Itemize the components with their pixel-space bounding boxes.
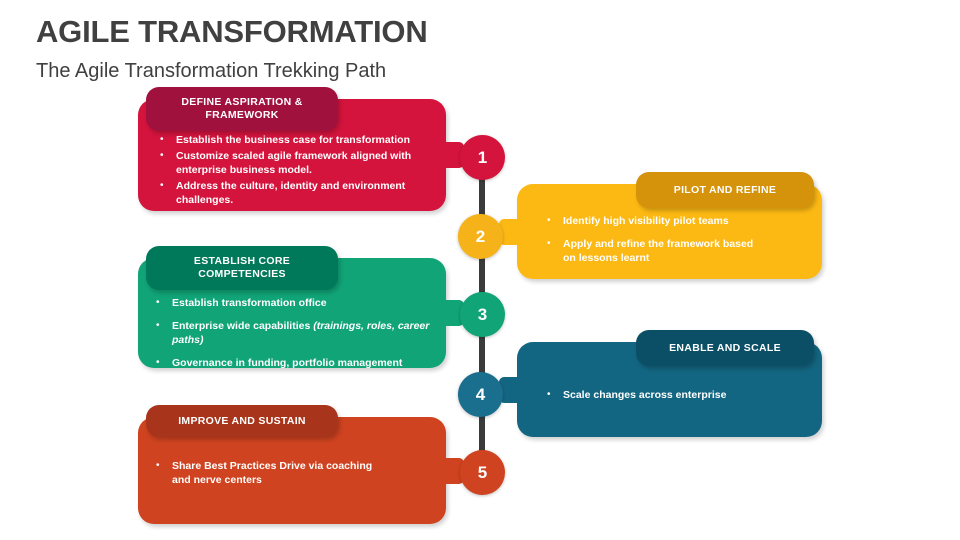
bullet-dot-icon: • [156,296,172,310]
card-header-3: ESTABLISH CORE COMPETENCIES [146,246,338,290]
bullet-dot-icon: • [156,319,172,333]
bullet-dot-icon: • [547,214,563,228]
step-card-1[interactable]: DEFINE ASPIRATION & FRAMEWORK • Establis… [138,99,446,211]
card-header-line1-3: ESTABLISH CORE [194,255,290,267]
step-card-4[interactable]: ENABLE AND SCALE • Scale changes across … [517,342,822,437]
page-subtitle: The Agile Transformation Trekking Path [36,60,386,83]
bullet-item: • Customize scaled agile framework align… [160,149,426,177]
bullet-dot-icon: • [156,356,172,370]
bullet-dot-icon: • [160,133,176,147]
step-number-circle-1[interactable]: 1 [460,135,505,180]
step-number-circle-2[interactable]: 2 [458,214,503,259]
slide-canvas: AGILE TRANSFORMATION The Agile Transform… [0,0,960,540]
step-card-2[interactable]: PILOT AND REFINE • Identify high visibil… [517,184,822,279]
step-card-5[interactable]: IMPROVE AND SUSTAIN • Share Best Practic… [138,417,446,524]
step-number-circle-3[interactable]: 3 [460,292,505,337]
page-title: AGILE TRANSFORMATION [36,14,428,50]
bullet-dot-icon: • [156,459,172,473]
card-bullets-5: • Share Best Practices Drive via coachin… [156,459,386,489]
step-number-label-2: 2 [476,227,485,247]
step-number-circle-5[interactable]: 5 [460,450,505,495]
bullet-dot-icon: • [547,237,563,251]
bullet-text-mixed: Enterprise wide capabilities (trainings,… [172,319,434,347]
card-bullets-1: • Establish the business case for transf… [160,133,426,209]
step-number-label-3: 3 [478,305,487,325]
bullet-item: • Apply and refine the framework based o… [547,237,802,265]
step-number-circle-4[interactable]: 4 [458,372,503,417]
bullet-item: • Address the culture, identity and envi… [160,179,426,207]
bullet-dot-icon: • [160,179,176,193]
step-number-label-4: 4 [476,385,485,405]
card-header-line1-1: DEFINE ASPIRATION & [181,96,302,108]
card-header-text-4: ENABLE AND SCALE [669,342,781,355]
card-bullets-2: • Identify high visibility pilot teams •… [547,214,802,274]
card-header-2: PILOT AND REFINE [636,172,814,208]
bullet-item: • Enterprise wide capabilities (training… [156,319,434,347]
card-header-4: ENABLE AND SCALE [636,330,814,366]
card-header-line2-1: FRAMEWORK [205,109,278,121]
card-bullets-4: • Scale changes across enterprise [547,388,802,404]
card-header-5: IMPROVE AND SUSTAIN [146,405,338,437]
card-bullets-3: • Establish transformation office • Ente… [156,296,434,379]
step-number-label-1: 1 [478,148,487,168]
bullet-dot-icon: • [547,388,563,402]
card-notch-4 [499,377,529,403]
card-header-text-3: ESTABLISH CORE COMPETENCIES [194,255,290,281]
card-notch-2 [499,219,529,245]
step-number-label-5: 5 [478,463,487,483]
bullet-item: • Establish the business case for transf… [160,133,426,147]
bullet-item: • Share Best Practices Drive via coachin… [156,459,386,487]
card-header-text-5: IMPROVE AND SUSTAIN [178,415,306,428]
bullet-item: • Scale changes across enterprise [547,388,802,402]
step-card-3[interactable]: ESTABLISH CORE COMPETENCIES • Establish … [138,258,446,368]
bullet-item: • Establish transformation office [156,296,434,310]
card-header-text-1: DEFINE ASPIRATION & FRAMEWORK [181,96,302,122]
card-header-text-2: PILOT AND REFINE [674,184,776,197]
card-header-1: DEFINE ASPIRATION & FRAMEWORK [146,87,338,131]
bullet-item: • Governance in funding, portfolio manag… [156,356,434,370]
bullet-text-plain: Enterprise wide capabilities [172,320,313,332]
card-header-line2-3: COMPETENCIES [198,268,286,280]
bullet-dot-icon: • [160,149,176,163]
bullet-item: • Identify high visibility pilot teams [547,214,802,228]
